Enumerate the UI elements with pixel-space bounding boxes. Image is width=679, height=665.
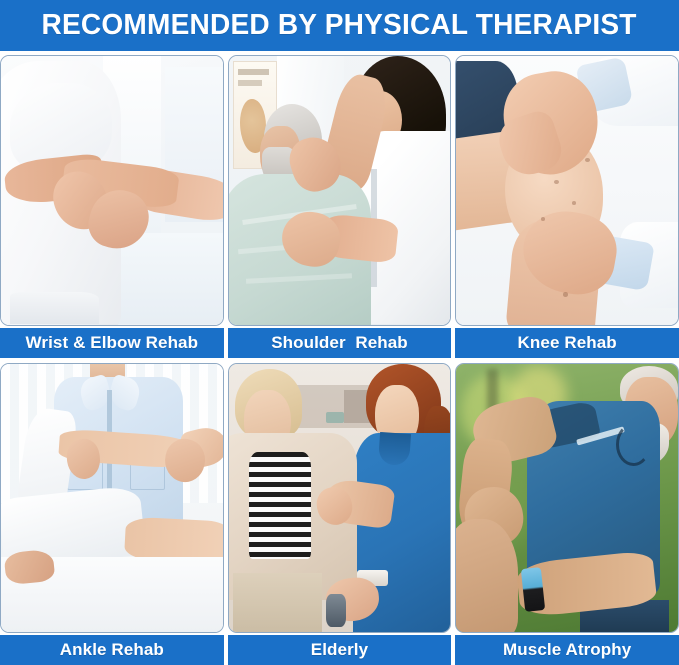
photo-wrist-elbow-rehab: [0, 55, 224, 326]
card-wrist-elbow-rehab[interactable]: Wrist & Elbow Rehab: [0, 55, 224, 358]
caption-wrist-elbow-rehab: Wrist & Elbow Rehab: [0, 328, 224, 358]
card-muscle-atrophy[interactable]: Muscle Atrophy: [455, 363, 679, 665]
scene-elderly: [229, 364, 451, 633]
photo-knee-rehab: [455, 55, 679, 326]
card-knee-rehab[interactable]: Knee Rehab: [455, 55, 679, 358]
scene-knee: [456, 56, 678, 325]
photo-muscle-atrophy: [455, 363, 679, 634]
card-shoulder-rehab[interactable]: Shoulder Rehab: [228, 55, 452, 358]
caption-muscle-atrophy: Muscle Atrophy: [455, 635, 679, 665]
caption-shoulder-rehab: Shoulder Rehab: [228, 328, 452, 358]
scene-ankle: [1, 364, 223, 633]
caption-knee-rehab: Knee Rehab: [455, 328, 679, 358]
scene-shoulder: [229, 56, 451, 325]
photo-elderly: [228, 363, 452, 634]
poster: RECOMMENDED BY PHYSICAL THERAPIST: [0, 0, 679, 665]
card-grid: Wrist & Elbow Rehab: [0, 55, 679, 665]
scene-wrist-elbow: [1, 56, 223, 325]
photo-ankle-rehab: [0, 363, 224, 634]
card-elderly[interactable]: Elderly: [228, 363, 452, 665]
scene-muscle-atrophy: [456, 364, 678, 633]
header-banner: RECOMMENDED BY PHYSICAL THERAPIST: [0, 0, 679, 51]
caption-ankle-rehab: Ankle Rehab: [0, 635, 224, 665]
card-ankle-rehab[interactable]: Ankle Rehab: [0, 363, 224, 665]
photo-shoulder-rehab: [228, 55, 452, 326]
caption-elderly: Elderly: [228, 635, 452, 665]
page-title: RECOMMENDED BY PHYSICAL THERAPIST: [42, 9, 637, 42]
